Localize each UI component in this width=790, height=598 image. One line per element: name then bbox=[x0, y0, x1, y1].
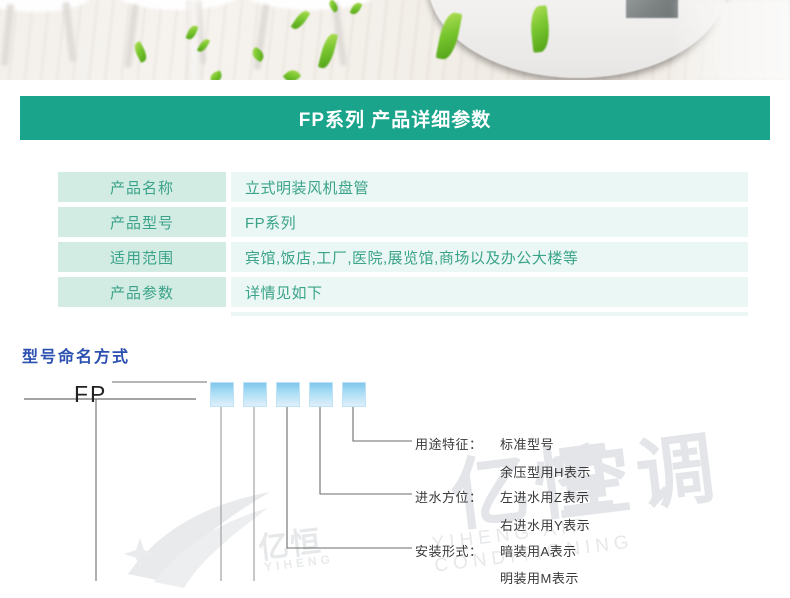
spec-label: 产品参数 bbox=[58, 277, 226, 307]
section-title-banner: FP系列 产品详细参数 bbox=[20, 96, 770, 140]
spec-value: FP系列 bbox=[231, 207, 748, 237]
spec-value: 宾馆,饭店,工厂,医院,展览馆,商场以及办公大楼等 bbox=[231, 242, 748, 272]
legend-value-usage-1: 标准型号 bbox=[500, 434, 554, 453]
code-box-4 bbox=[309, 382, 333, 407]
spec-value: 详情见如下 bbox=[231, 277, 748, 307]
table-row: 产品型号 FP系列 bbox=[58, 207, 748, 237]
legend-value-water-inlet-2: 右进水用Y表示 bbox=[500, 515, 590, 534]
spec-label: 适用范围 bbox=[58, 242, 226, 272]
legend-value-install-type-2: 明装用M表示 bbox=[500, 568, 579, 587]
spec-value: 立式明装风机盘管 bbox=[231, 172, 748, 202]
legend-value-water-inlet-1: 左进水用Z表示 bbox=[500, 487, 589, 506]
legend-value-install-type-1: 暗装用A表示 bbox=[500, 541, 577, 560]
legend-key-install-type: 安装形式： bbox=[415, 541, 483, 560]
code-box-5 bbox=[342, 382, 366, 407]
table-row: 产品名称 立式明装风机盘管 bbox=[58, 172, 748, 202]
naming-prefix-label: FP bbox=[74, 381, 107, 408]
table-row: 产品参数 详情见如下 bbox=[58, 277, 748, 307]
naming-leader-lines bbox=[0, 330, 790, 581]
code-box-3 bbox=[276, 382, 300, 407]
code-box-1 bbox=[210, 382, 234, 407]
vertical-post bbox=[186, 0, 202, 80]
legend-key-water-inlet: 进水方位： bbox=[415, 487, 483, 506]
table-bottom-edge bbox=[231, 312, 748, 316]
product-spec-table: 产品名称 立式明装风机盘管 产品型号 FP系列 适用范围 宾馆,饭店,工厂,医院… bbox=[58, 172, 748, 316]
legend-value-usage-2: 余压型用H表示 bbox=[500, 462, 591, 481]
code-box-2 bbox=[243, 382, 267, 407]
section-title-text: FP系列 产品详细参数 bbox=[299, 105, 492, 132]
hero-banner-image bbox=[0, 0, 790, 80]
table-row: 适用范围 宾馆,饭店,工厂,医院,展览馆,商场以及办公大楼等 bbox=[58, 242, 748, 272]
wall-highlight bbox=[670, 0, 790, 80]
spec-label: 产品名称 bbox=[58, 172, 226, 202]
legend-key-usage: 用途特征： bbox=[415, 434, 483, 453]
spec-label: 产品型号 bbox=[58, 207, 226, 237]
